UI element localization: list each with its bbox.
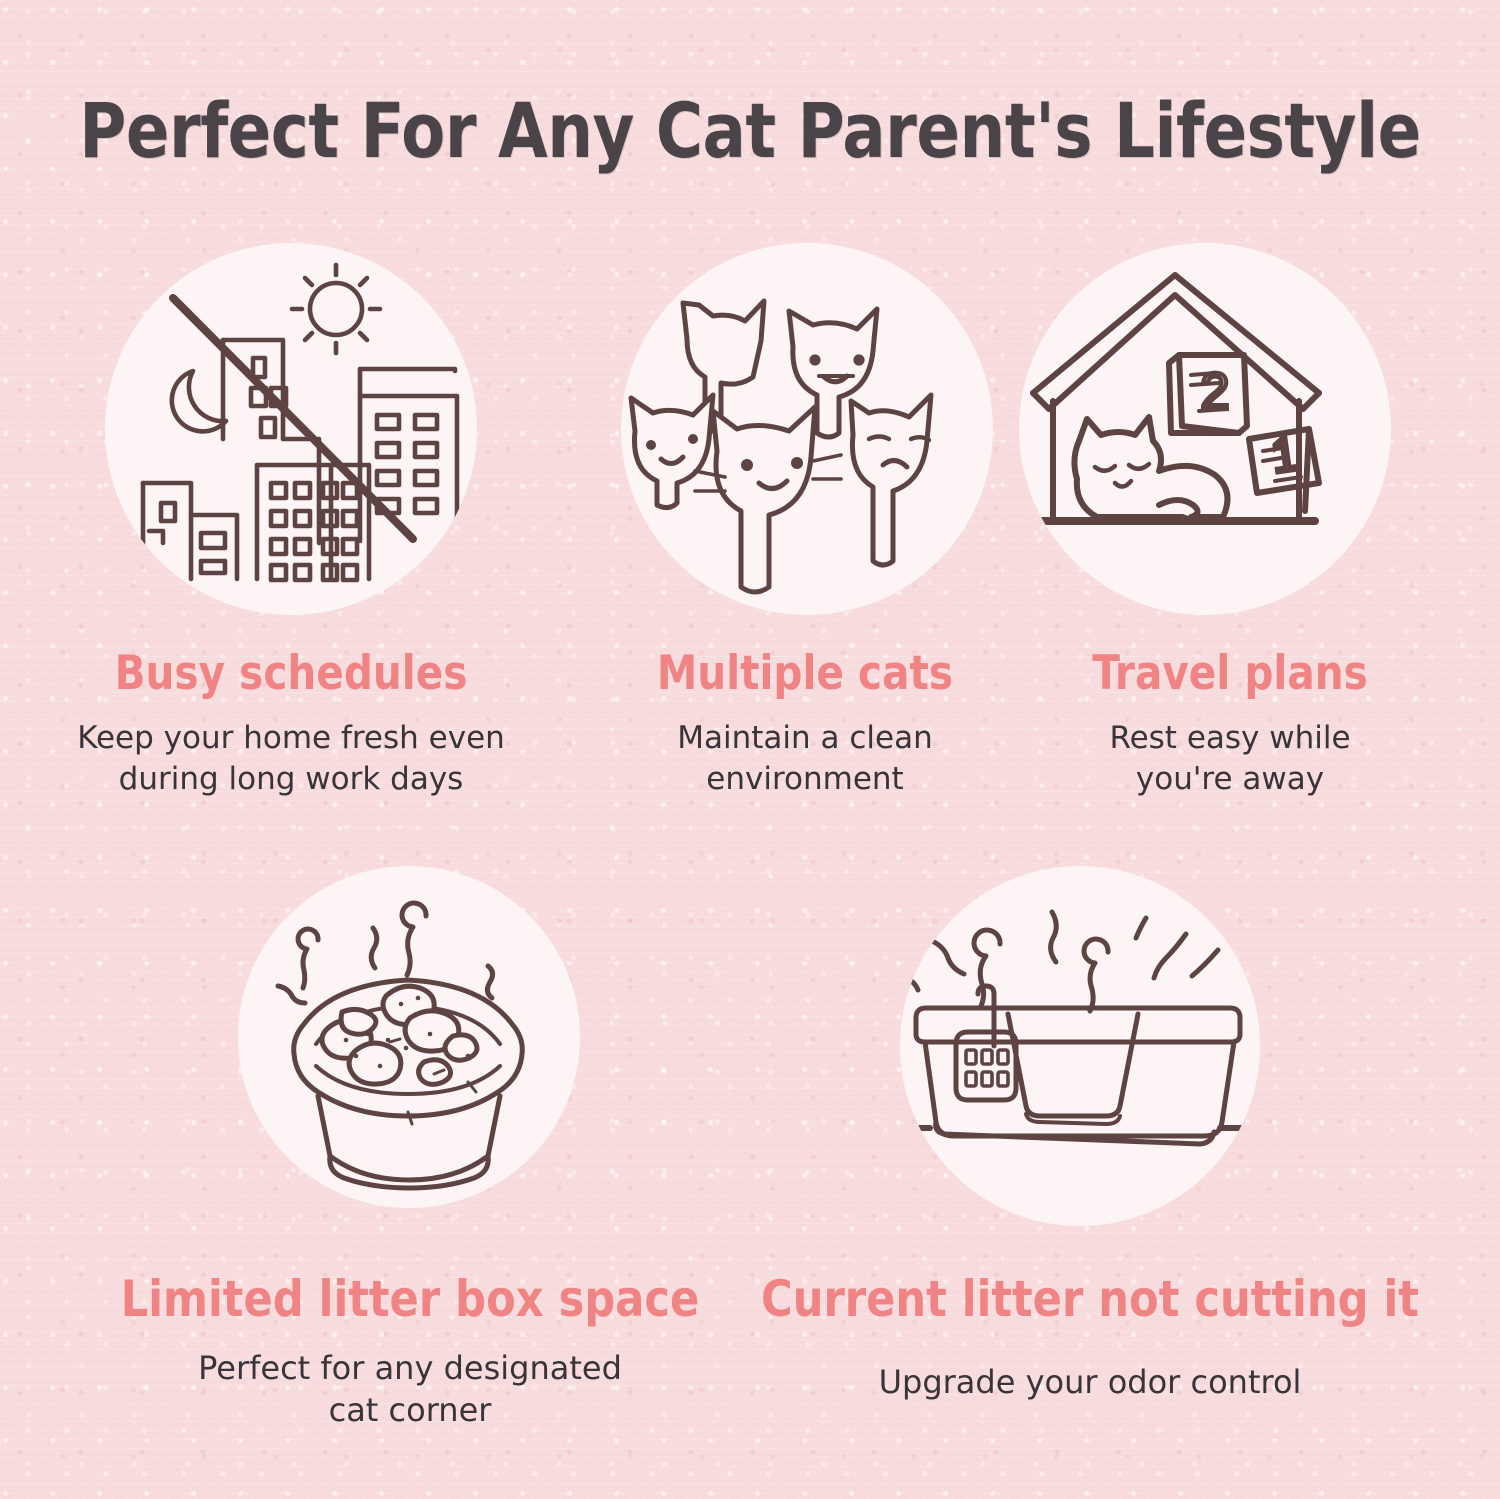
card-heading-busy-schedules: Busy schedules: [17, 648, 564, 700]
overflowing-litter-pail-odor-icon: [238, 866, 580, 1208]
desc-line-1: Keep your home fresh even: [6, 718, 576, 759]
card-description-multiple-cats: Maintain a clean environment: [560, 718, 1050, 800]
card-text-limited-space: Limited litter box space Perfect for any…: [60, 1272, 760, 1431]
infographic-content: Perfect For Any Cat Parent's Lifestyle: [0, 0, 1500, 1499]
page-title: Perfect For Any Cat Parent's Lifestyle: [45, 86, 1455, 175]
desc-line-1: Perfect for any designated: [60, 1347, 760, 1389]
icon-circle-limited-space: [238, 866, 580, 1208]
desc-line-2: cat corner: [60, 1389, 760, 1431]
four-cats-icon: [621, 243, 993, 615]
desc-line-2: environment: [560, 759, 1050, 800]
desc-line-1: Maintain a clean: [560, 718, 1050, 759]
card-heading-current-litter: Current litter not cutting it: [754, 1272, 1426, 1327]
desc-line-2: you're away: [1000, 759, 1460, 800]
litter-box-with-scoop-odor-icon: [900, 866, 1260, 1226]
card-heading-limited-space: Limited litter box space: [74, 1272, 746, 1327]
icon-circle-multiple-cats: [621, 243, 993, 615]
card-description-limited-space: Perfect for any designated cat corner: [60, 1347, 760, 1431]
desc-line-1: Rest easy while: [1000, 718, 1460, 759]
card-description-current-litter: Upgrade your odor control: [740, 1361, 1440, 1403]
card-text-travel-plans: Travel plans Rest easy while you're away: [1000, 648, 1460, 800]
icon-circle-travel-plans: 2 1: [1019, 243, 1391, 615]
card-text-multiple-cats: Multiple cats Maintain a clean environme…: [560, 648, 1050, 800]
desc-line-1: Upgrade your odor control: [740, 1361, 1440, 1403]
house-with-sleeping-cat-calendar-icon: 2 1: [1019, 243, 1391, 615]
icon-circle-current-litter: [900, 866, 1260, 1226]
card-description-travel-plans: Rest easy while you're away: [1000, 718, 1460, 800]
card-description-busy-schedules: Keep your home fresh even during long wo…: [6, 718, 576, 800]
calendar-number-2: 2: [1201, 363, 1230, 421]
card-text-current-litter: Current litter not cutting it Upgrade yo…: [740, 1272, 1440, 1403]
city-skyline-day-night-icon: [105, 243, 477, 615]
card-text-busy-schedules: Busy schedules Keep your home fresh even…: [6, 648, 576, 800]
card-heading-multiple-cats: Multiple cats: [570, 648, 1040, 700]
desc-line-2: during long work days: [6, 759, 576, 800]
icon-circle-busy-schedules: [105, 243, 477, 615]
card-heading-travel-plans: Travel plans: [1009, 648, 1451, 700]
